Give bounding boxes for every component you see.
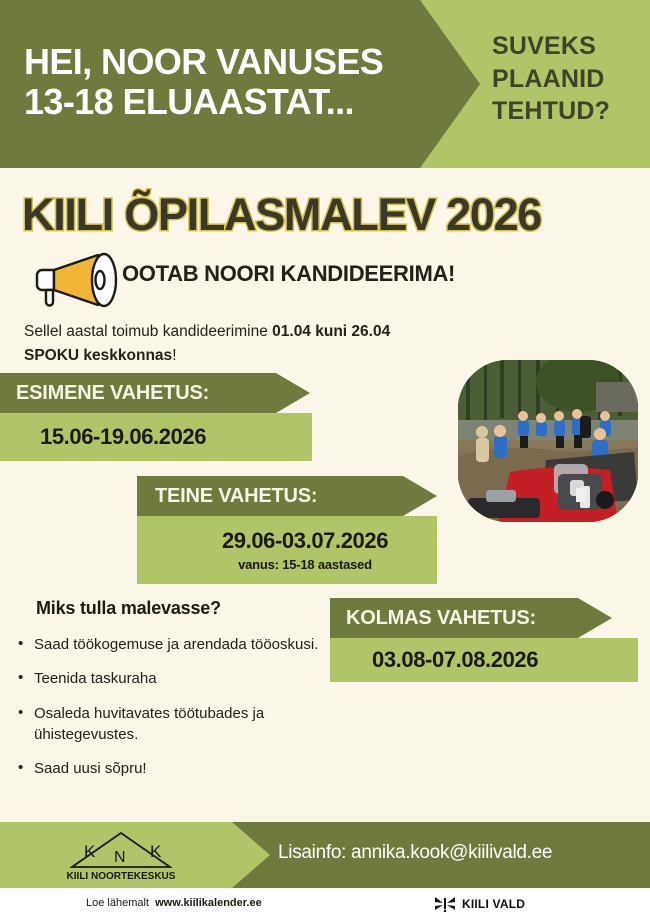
info-dates: 01.04 kuni 26.04 bbox=[272, 323, 390, 340]
list-item: Teenida taskuraha bbox=[16, 668, 336, 689]
shift-3-body: 03.08-07.08.2026 bbox=[330, 638, 638, 682]
shift-2-header: TEINE VAHETUS: bbox=[137, 476, 437, 516]
page-title: KIILI ÕPILASMALEV 2026 bbox=[22, 189, 541, 241]
list-item: Saad töökogemuse ja arendada tööoskusi. bbox=[16, 634, 336, 655]
info-suffix: ! bbox=[172, 347, 176, 364]
list-item: Osaleda huvitavates töötubades ja ühiste… bbox=[16, 703, 336, 746]
list-item: Saad uusi sõpru! bbox=[16, 758, 336, 779]
shift-2-date: 29.06-03.07.2026 bbox=[222, 528, 388, 554]
megaphone-icon bbox=[24, 246, 128, 312]
shift-1-body: 15.06-19.06.2026 bbox=[0, 413, 312, 461]
header-banner: HEI, NOOR VANUSES 13-18 ELUAASTAT... SUV… bbox=[0, 0, 650, 168]
why-join-list: Saad töökogemuse ja arendada tööoskusi. … bbox=[16, 634, 336, 792]
header-side-question: SUVEKS PLAANID TEHTUD? bbox=[492, 30, 642, 128]
read-more-label: Loe lähemalt bbox=[86, 897, 149, 909]
read-more-group: Loe lähemalt www.kiilikalender.ee bbox=[86, 897, 262, 909]
shift-2-label: TEINE VAHETUS: bbox=[155, 485, 317, 508]
header-title: HEI, NOOR VANUSES 13-18 ELUAASTAT... bbox=[24, 42, 424, 123]
shift-3-label: KOLMAS VAHETUS: bbox=[346, 607, 536, 630]
header-side-line-2: PLAANID bbox=[492, 63, 642, 96]
camp-photo bbox=[458, 360, 638, 522]
footer-band: K N K KIILI NOORTEKESKUS Lisainfo: annik… bbox=[0, 822, 650, 888]
svg-text:K: K bbox=[150, 842, 162, 861]
svg-text:KIILI NOORTEKESKUS: KIILI NOORTEKESKUS bbox=[67, 871, 176, 882]
website-link[interactable]: www.kiilikalender.ee bbox=[155, 897, 262, 909]
shift-3-header: KOLMAS VAHETUS: bbox=[330, 598, 612, 638]
contact-email-text[interactable]: Lisainfo: annika.kook@kiilivald.ee bbox=[278, 842, 552, 864]
dragonfly-icon bbox=[434, 896, 456, 912]
shift-3-date: 03.08-07.08.2026 bbox=[372, 647, 538, 673]
header-title-line-2: 13-18 ELUAASTAT... bbox=[24, 82, 424, 122]
shift-1-date: 15.06-19.06.2026 bbox=[40, 424, 206, 450]
kiili-vald-label: KIILI VALD bbox=[462, 897, 525, 911]
application-info-text: Sellel aastal toimub kandideerimine 01.0… bbox=[24, 320, 464, 368]
shift-1-label: ESIMENE VAHETUS: bbox=[16, 382, 209, 405]
shift-2-body: 29.06-03.07.2026 vanus: 15-18 aastased bbox=[137, 516, 437, 584]
bottom-bar: Loe lähemalt www.kiilikalender.ee KIILI … bbox=[0, 888, 650, 919]
header-side-line-3: TEHTUD? bbox=[492, 95, 642, 128]
svg-text:K: K bbox=[84, 842, 96, 861]
shift-2-age-note: vanus: 15-18 aastased bbox=[238, 557, 372, 572]
shift-1-header: ESIMENE VAHETUS: bbox=[0, 373, 310, 413]
kiili-noortekeskus-logo: K N K KIILI NOORTEKESKUS bbox=[62, 829, 180, 883]
info-prefix: Sellel aastal toimub kandideerimine bbox=[24, 323, 272, 340]
info-environment: SPOKU keskkonnas bbox=[24, 347, 172, 364]
why-join-title: Miks tulla malevasse? bbox=[36, 598, 221, 619]
megaphone-subtitle: OOTAB NOORI KANDIDEERIMA! bbox=[122, 261, 455, 287]
kiili-vald-group: KIILI VALD bbox=[434, 896, 525, 912]
svg-text:N: N bbox=[114, 849, 126, 866]
header-side-line-1: SUVEKS bbox=[492, 30, 642, 63]
header-title-line-1: HEI, NOOR VANUSES bbox=[24, 42, 424, 82]
